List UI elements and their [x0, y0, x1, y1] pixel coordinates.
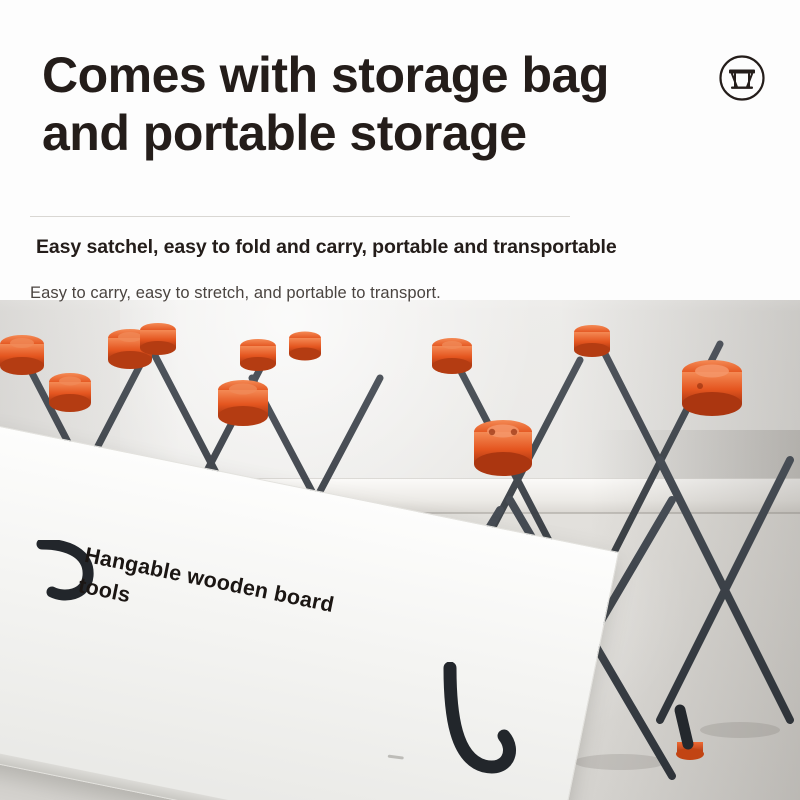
header-panel: Comes with storage bag and portable stor…	[0, 0, 800, 312]
folding-stool-icon	[718, 54, 766, 102]
title-line-1: Comes with storage bag	[42, 47, 609, 103]
header-subtitle: Easy satchel, easy to fold and carry, po…	[36, 236, 617, 259]
header-subcaption: Easy to carry, easy to stretch, and port…	[30, 284, 441, 303]
title-line-2: and portable storage	[42, 104, 762, 162]
page-title: Comes with storage bag and portable stor…	[42, 46, 762, 162]
product-marketing-image: Comes with storage bag and portable stor…	[0, 0, 800, 800]
header-divider	[30, 216, 570, 217]
board-hook-right	[432, 662, 522, 792]
board-scuff-mark	[388, 755, 404, 760]
